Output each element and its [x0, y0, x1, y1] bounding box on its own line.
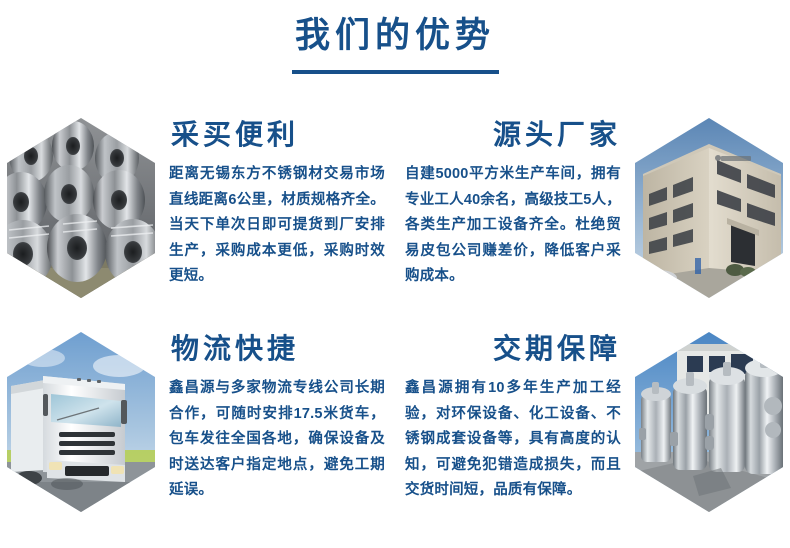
card-body: 鑫昌源拥有10多年生产加工经验，对环保设备、化工设备、不锈钢成套设备等，具有高度…	[405, 376, 621, 504]
advantage-card-fast-logistics: 物流快捷 鑫昌源与多家物流专线公司长期合作，可随时安排17.5米货车，包车发往全…	[0, 322, 395, 537]
card-text-fast-logistics: 物流快捷 鑫昌源与多家物流专线公司长期合作，可随时安排17.5米货车，包车发往全…	[155, 322, 395, 504]
steel-coils-photo	[7, 118, 155, 298]
stainless-steel-tanks-photo-wrap	[635, 332, 783, 512]
page-header: 我们的优势	[0, 12, 790, 74]
advantage-card-delivery-guarantee: 交期保障 鑫昌源拥有10多年生产加工经验，对环保设备、化工设备、不锈钢成套设备等…	[395, 322, 790, 537]
card-heading: 源头厂家	[405, 116, 621, 154]
delivery-truck-photo-wrap	[7, 332, 155, 512]
card-text-purchase-convenience: 采买便利 距离无锡东方不锈钢材交易市场直线距离6公里，材质规格齐全。当天下单次日…	[155, 108, 395, 290]
card-heading: 物流快捷	[169, 330, 385, 368]
delivery-truck-photo	[7, 332, 155, 512]
advantages-page: 我们的优势	[0, 0, 790, 548]
steel-coils-photo-wrap	[7, 118, 155, 298]
advantage-card-grid: 采买便利 距离无锡东方不锈钢材交易市场直线距离6公里，材质规格齐全。当天下单次日…	[0, 100, 790, 540]
title-underline-divider	[292, 70, 499, 74]
page-title: 我们的优势	[0, 12, 790, 60]
stainless-steel-tanks-photo	[635, 332, 783, 512]
advantage-card-source-manufacturer: 源头厂家 自建5000平方米生产车间，拥有专业工人40余名，高级技工5人，各类生…	[395, 108, 790, 323]
card-text-delivery-guarantee: 交期保障 鑫昌源拥有10多年生产加工经验，对环保设备、化工设备、不锈钢成套设备等…	[395, 322, 635, 504]
card-body: 距离无锡东方不锈钢材交易市场直线距离6公里，材质规格齐全。当天下单次日即可提货到…	[169, 162, 385, 290]
card-body: 自建5000平方米生产车间，拥有专业工人40余名，高级技工5人，各类生产加工设备…	[405, 162, 621, 290]
advantage-card-purchase-convenience: 采买便利 距离无锡东方不锈钢材交易市场直线距离6公里，材质规格齐全。当天下单次日…	[0, 108, 395, 323]
card-heading: 交期保障	[405, 330, 621, 368]
factory-building-photo	[635, 118, 783, 298]
card-heading: 采买便利	[169, 116, 385, 154]
card-text-source-manufacturer: 源头厂家 自建5000平方米生产车间，拥有专业工人40余名，高级技工5人，各类生…	[395, 108, 635, 290]
factory-building-photo-wrap	[635, 118, 783, 298]
card-body: 鑫昌源与多家物流专线公司长期合作，可随时安排17.5米货车，包车发往全国各地，确…	[169, 376, 385, 504]
